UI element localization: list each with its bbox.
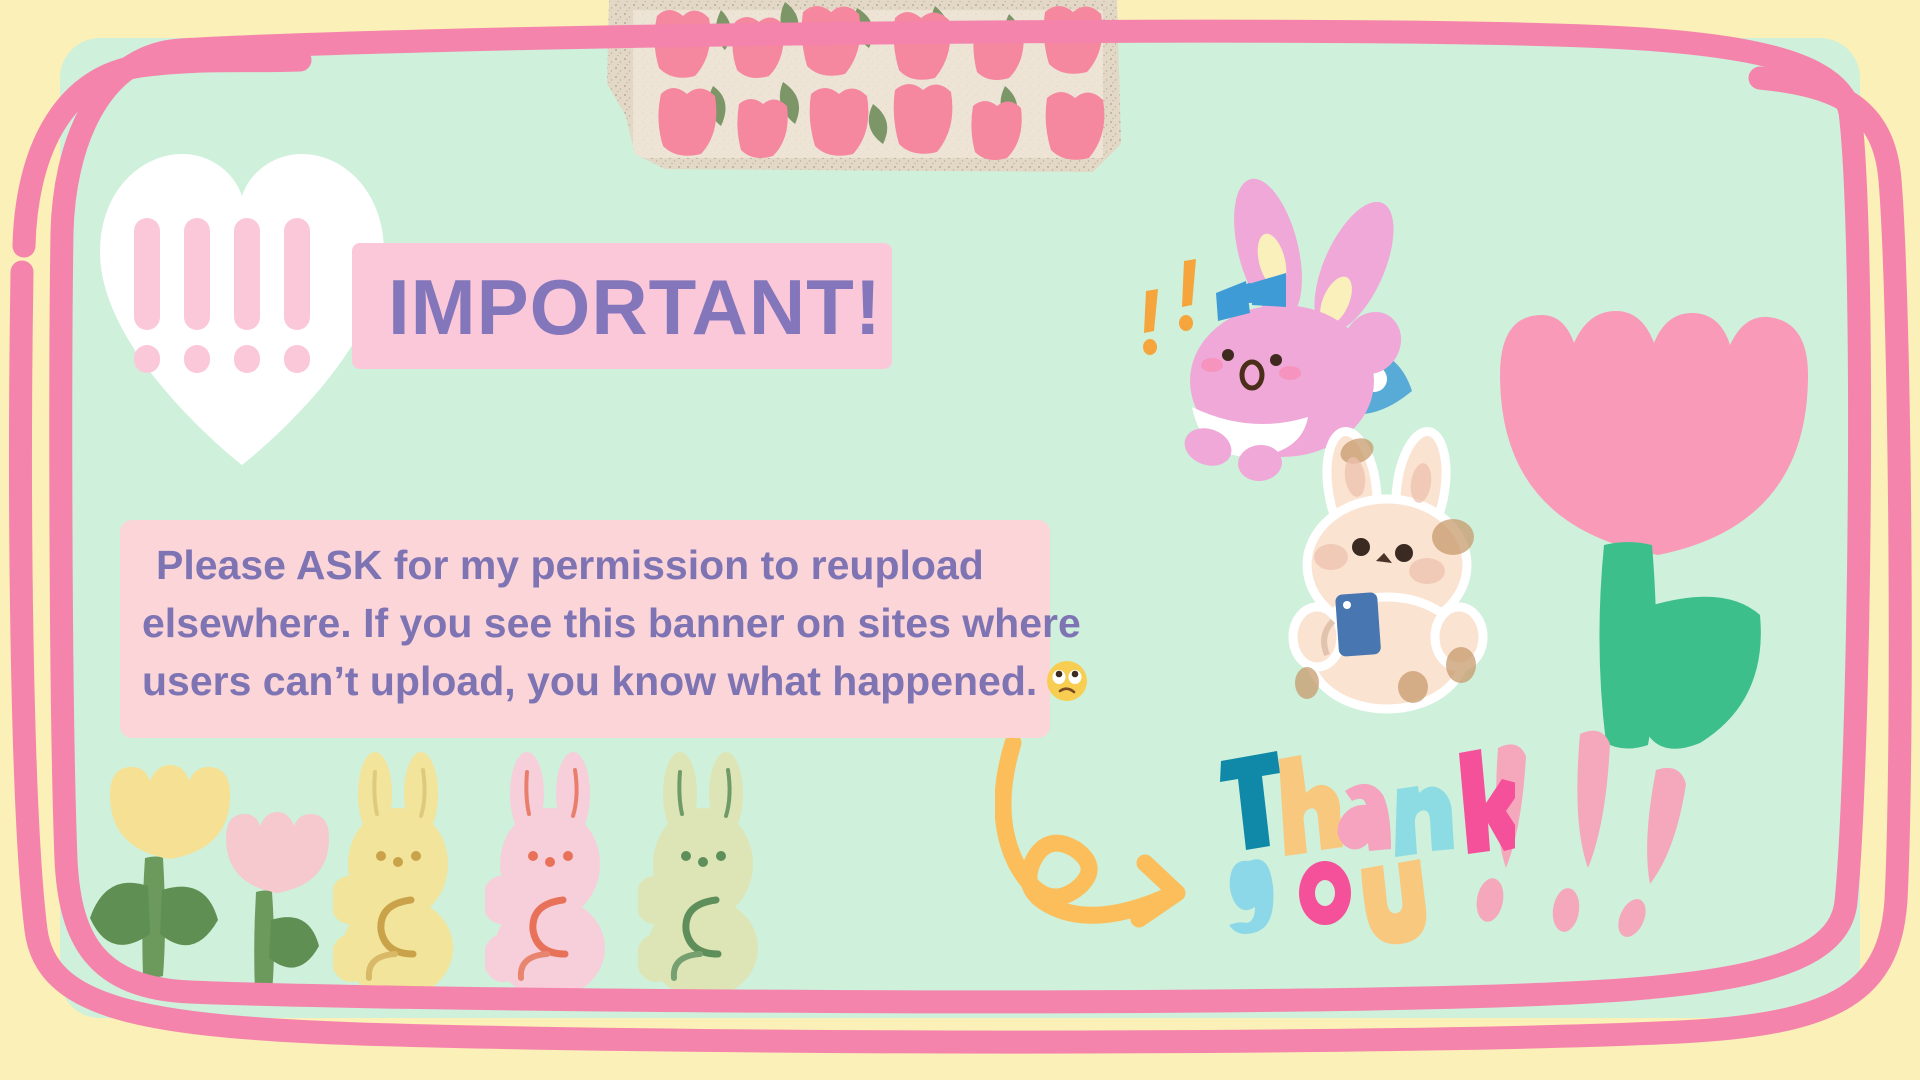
- white-heart-with-exclaims: [92, 140, 392, 470]
- small-tulip-yellow: [90, 765, 230, 978]
- small-tulip-pink: [226, 812, 329, 994]
- orange-exclamation-marks: [1143, 259, 1196, 355]
- letter-n: [1395, 786, 1454, 857]
- body-line-3: users can’t upload, you know what happen…: [142, 652, 1024, 718]
- body-line-1: Please ASK for my permission to reupload: [142, 536, 1024, 594]
- letter-u: [1361, 859, 1426, 944]
- letter-y: [1229, 859, 1274, 934]
- face-with-rolling-eyes-icon: [1045, 659, 1089, 718]
- letter-o: [1299, 861, 1351, 925]
- banner-canvas: IMPORTANT!: [0, 0, 1920, 1080]
- cream-bunny-with-phone-sticker: [1275, 425, 1505, 715]
- blue-phone-icon: [1335, 592, 1381, 657]
- marshmallow-bunny-yellow: [333, 752, 463, 1002]
- marshmallow-bunny-pink: [485, 752, 615, 1002]
- letter-k: [1459, 749, 1515, 854]
- washi-tape-tulips: [605, 0, 1125, 179]
- body-text-band: Please ASK for my permission to reupload…: [120, 520, 1050, 738]
- thank-you-lettering: [1215, 745, 1515, 960]
- body-line-2: elsewhere. If you see this banner on sit…: [142, 594, 1024, 652]
- page-title: IMPORTANT!: [388, 252, 908, 362]
- letter-T: [1220, 751, 1280, 850]
- body-line-3-text: users can’t upload, you know what happen…: [142, 658, 1037, 704]
- letter-h: [1279, 755, 1343, 856]
- marshmallow-bunny-green: [638, 752, 768, 1002]
- letter-a: [1337, 784, 1391, 851]
- small-tulips-pair: [88, 750, 338, 1000]
